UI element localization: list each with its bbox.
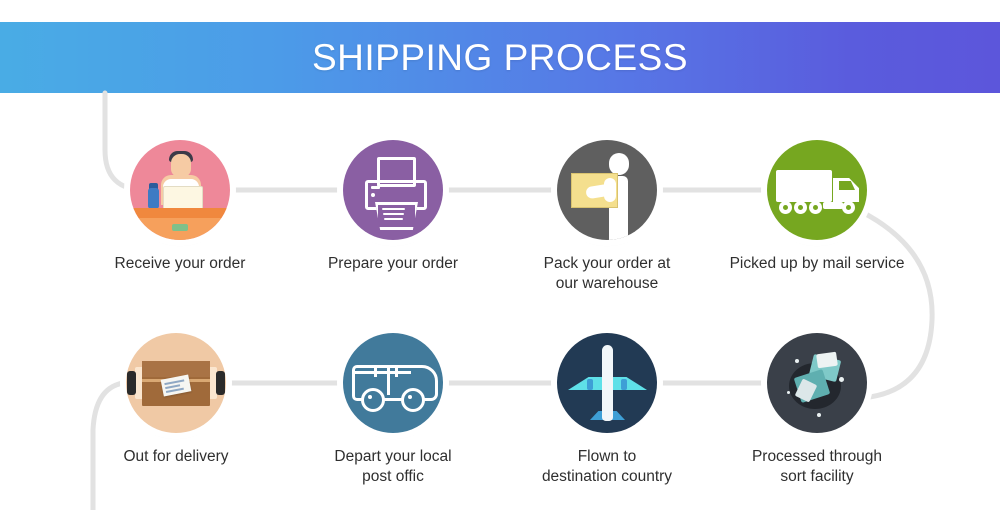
van-pillar-shape	[395, 365, 398, 377]
van-wheel-shape	[401, 388, 425, 412]
engine-shape	[587, 379, 593, 390]
water-bottle-shape	[148, 188, 159, 209]
clamp-left-shape	[127, 371, 136, 395]
van-window-line-shape	[355, 371, 411, 374]
sparkle-shape	[787, 391, 790, 394]
sparkle-shape	[839, 377, 844, 382]
page-title: SHIPPING PROCESS	[312, 37, 688, 79]
delivery-van-icon	[343, 333, 443, 433]
van-pillar-shape	[374, 365, 377, 377]
truck-wheel-shape	[794, 201, 807, 214]
van-door-line-shape	[387, 368, 390, 395]
step-out-for-delivery[interactable]: Out for delivery	[81, 333, 271, 467]
printer-output-tray-shape	[375, 202, 418, 230]
step-receive-your-order[interactable]: Receive your order	[85, 140, 275, 274]
step-prepare-your-order[interactable]: Prepare your order	[298, 140, 488, 274]
sparkle-shape	[795, 359, 799, 363]
truck-trailer-shape	[776, 170, 832, 202]
printer-icon	[343, 140, 443, 240]
step-label: Picked up by mail service	[722, 254, 912, 274]
clamp-right-shape	[216, 371, 225, 395]
fuselage-shape	[602, 345, 613, 421]
step-picked-up-by-mail-service[interactable]: Picked up by mail service	[722, 140, 912, 274]
sort-facility-icon	[767, 333, 867, 433]
header-banner: SHIPPING PROCESS	[0, 22, 1000, 93]
step-label: Depart your local post offic	[298, 447, 488, 487]
desk-top-shape	[130, 208, 230, 218]
sparkle-shape	[817, 413, 821, 417]
carton-top-shape	[142, 361, 210, 377]
printer-slot-shape	[371, 186, 380, 189]
airplane-icon	[557, 333, 657, 433]
step-label: Prepare your order	[298, 254, 488, 274]
step-flown-to-destination-country[interactable]: Flown to destination country	[512, 333, 702, 487]
print-line-shape	[382, 208, 405, 210]
head-shape	[171, 154, 191, 177]
person-at-desk-icon	[130, 140, 230, 240]
engine-shape	[621, 379, 627, 390]
truck-wheel-shape	[842, 201, 855, 214]
cardboard-box-icon	[126, 333, 226, 433]
plant-shape	[172, 224, 188, 231]
step-processed-through-sort-facility[interactable]: Processed through sort facility	[722, 333, 912, 487]
van-wheel-shape	[361, 388, 385, 412]
person-carrying-box-icon	[557, 140, 657, 240]
truck-wheel-shape	[809, 201, 822, 214]
head-shape	[609, 153, 629, 175]
print-line-shape	[384, 218, 403, 220]
step-label: Processed through sort facility	[722, 447, 912, 487]
mail-piece-shape	[816, 352, 838, 369]
truck-skirt-shape	[823, 202, 843, 209]
step-label: Flown to destination country	[512, 447, 702, 487]
printer-led-shape	[371, 193, 375, 197]
step-depart-your-local-post-office[interactable]: Depart your local post offic	[298, 333, 488, 487]
step-label: Out for delivery	[81, 447, 271, 467]
upper-arm-shape	[604, 178, 616, 202]
print-line-shape	[383, 213, 404, 215]
step-label: Pack your order at our warehouse	[512, 254, 702, 294]
step-label: Receive your order	[85, 254, 275, 274]
delivery-truck-icon	[767, 140, 867, 240]
truck-wheel-shape	[779, 201, 792, 214]
step-pack-your-order[interactable]: Pack your order at our warehouse	[512, 140, 702, 294]
